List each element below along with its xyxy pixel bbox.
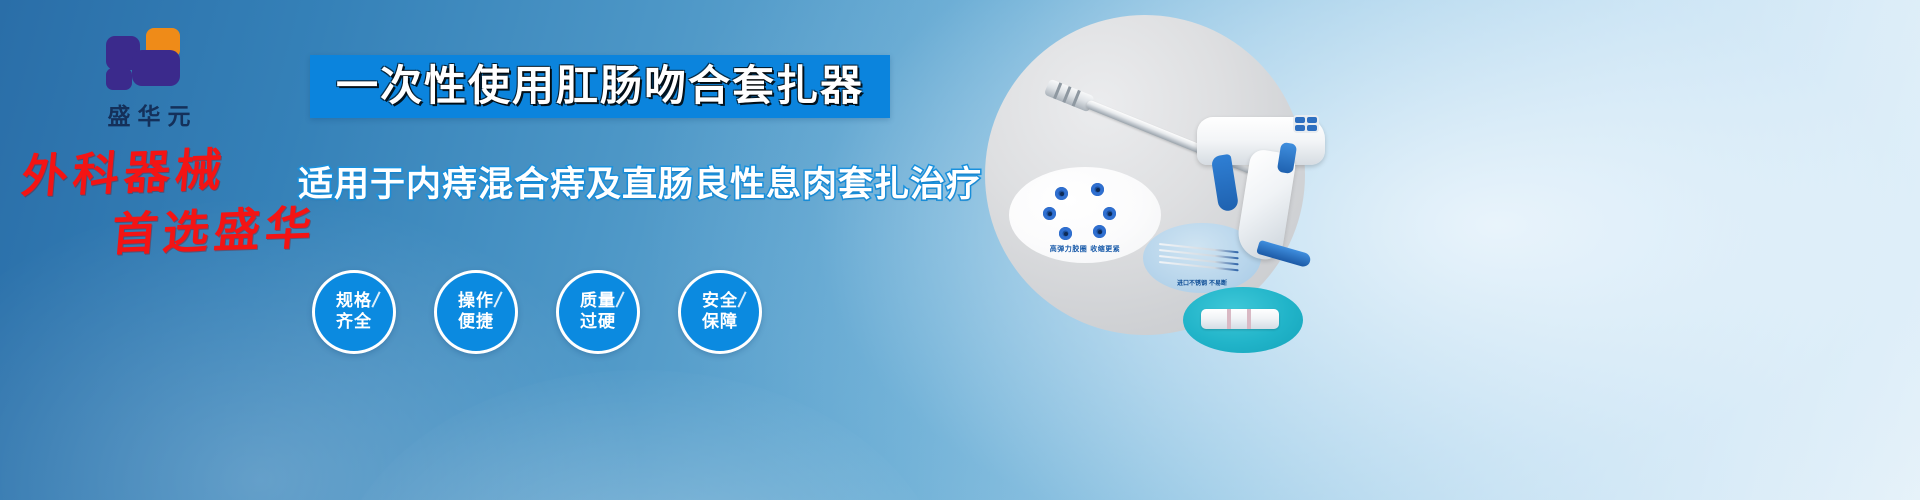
device-tail (1256, 240, 1312, 268)
inset-tube (1183, 287, 1303, 353)
device-tip-band (1062, 86, 1071, 103)
device-button (1307, 125, 1317, 131)
device-button (1295, 125, 1305, 131)
device-tip-band (1072, 90, 1081, 107)
feature-badge-2-line2: 便捷 (458, 312, 494, 333)
anorectal-ligation-device-icon (1047, 59, 1307, 289)
device-button (1295, 117, 1305, 123)
feature-badge-4-line2: 保障 (702, 312, 738, 333)
feature-badge-2-line1: 操作 (458, 291, 494, 312)
slash-decor-icon (737, 291, 746, 307)
brand-logo[interactable]: 盛华元 (64, 28, 234, 131)
brand-name: 盛华元 (64, 97, 234, 131)
feature-badge-4-line1: 安全 (702, 291, 738, 312)
slash-decor-icon (493, 291, 502, 307)
feature-badge-2[interactable]: 操作 便捷 (434, 270, 518, 354)
device-tip-band (1053, 82, 1062, 99)
calligraphy-line-1: 外科器械 (20, 146, 229, 199)
feature-badge-3-line2: 过硬 (580, 312, 616, 333)
slash-decor-icon (615, 291, 624, 307)
device-button (1307, 117, 1317, 123)
background-sheen-center (330, 370, 950, 500)
device-button-pad (1293, 115, 1319, 133)
shenghuayuan-logo-icon (106, 28, 192, 92)
subtitle: 适用于内痔混合痔及直肠良性息肉套扎治疗 (298, 156, 982, 207)
feature-badge-3-line1: 质量 (580, 291, 616, 312)
tube-ring-icon (1247, 309, 1251, 329)
logo-square-purple-bottom (106, 68, 132, 90)
feature-badge-1[interactable]: 规格 齐全 (312, 270, 396, 354)
page-title: 一次性使用肛肠吻合套扎器 (336, 63, 864, 108)
logo-square-purple-main (132, 50, 180, 86)
feature-badge-1-line1: 规格 (336, 291, 372, 312)
headline-bar: 一次性使用肛肠吻合套扎器 (310, 55, 890, 118)
calligraphy-line-2: 首选盛华 (110, 204, 319, 257)
feature-badge-4[interactable]: 安全 保障 (678, 270, 762, 354)
feature-badge-3[interactable]: 质量 过硬 (556, 270, 640, 354)
slash-decor-icon (371, 291, 380, 307)
product-photo: 高弹力胶圈 收缩更紧 进口不锈钢 不易断 (985, 15, 1305, 335)
feature-badge-list: 规格 齐全 操作 便捷 质量 过硬 安全 保障 (312, 270, 762, 354)
promo-banner: 盛华元 外科器械 首选盛华 一次性使用肛肠吻合套扎器 适用于内痔混合痔及直肠良性… (0, 0, 1920, 500)
feature-badge-1-line2: 齐全 (336, 312, 372, 333)
tube-ring-icon (1227, 309, 1231, 329)
tube-icon (1201, 309, 1279, 329)
